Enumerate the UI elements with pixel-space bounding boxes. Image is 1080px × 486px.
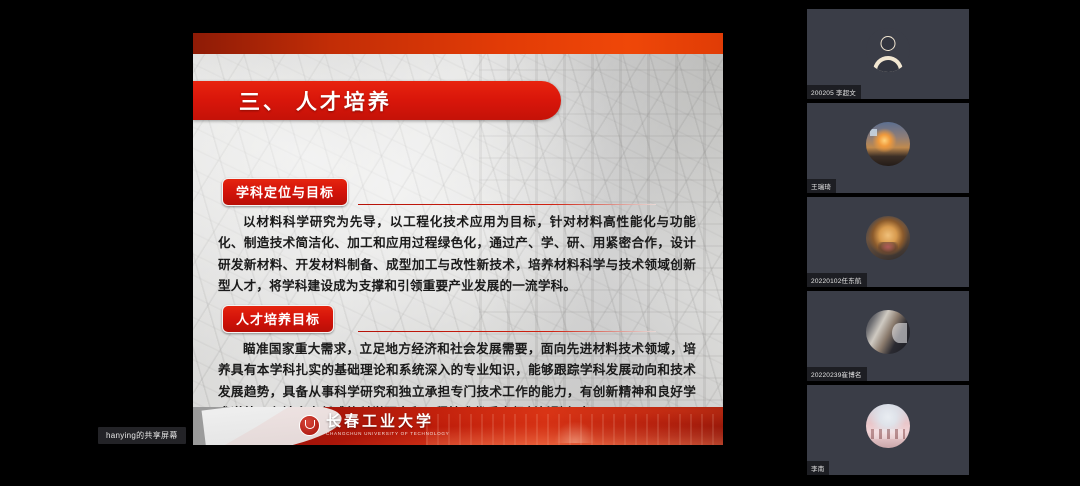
participant-filmstrip[interactable]: 200205 李超文 王瑞琦 20220102任东航 20220239崔博名 李…	[807, 9, 969, 479]
participant-tile[interactable]: 李南	[807, 385, 969, 475]
shared-screen-stage[interactable]: 三、 人才培养 学科定位与目标 以材料科学研究为先导，以工程化技术应用为目标，针…	[0, 0, 795, 486]
section-rule-2	[358, 331, 656, 333]
university-name-en: CHANGCHUN UNIVERSITY OF TECHNOLOGY	[326, 432, 449, 437]
participant-tile[interactable]: 20220102任东航	[807, 197, 969, 287]
section-body-1: 以材料科学研究为先导，以工程化技术应用为目标，针对材料高性能化与功能化、制造技术…	[218, 211, 696, 297]
participant-name: 20220102任东航	[807, 273, 867, 287]
avatar	[866, 122, 910, 166]
section-header-2: 人才培养目标	[222, 305, 334, 333]
participant-tile[interactable]: 王瑞琦	[807, 103, 969, 193]
presentation-slide: 三、 人才培养 学科定位与目标 以材料科学研究为先导，以工程化技术应用为目标，针…	[193, 33, 723, 445]
presenter-caption: hanying的共享屏幕	[98, 427, 186, 444]
slide-footer: 长春工业大学 CHANGCHUN UNIVERSITY OF TECHNOLOG…	[193, 407, 723, 445]
slide-top-banner	[193, 33, 723, 54]
university-logo: 长春工业大学 CHANGCHUN UNIVERSITY OF TECHNOLOG…	[299, 414, 449, 437]
section-rule-1	[358, 204, 656, 206]
participant-name: 200205 李超文	[807, 85, 861, 99]
slide-title: 三、 人才培养	[239, 86, 392, 116]
section-badge-1: 学科定位与目标	[222, 178, 348, 206]
university-emblem-icon	[299, 415, 320, 436]
university-name-cn: 长春工业大学	[326, 414, 449, 429]
participant-name: 李南	[807, 461, 829, 475]
avatar	[866, 404, 910, 448]
participant-tile[interactable]: 200205 李超文	[807, 9, 969, 99]
section-badge-2: 人才培养目标	[222, 305, 334, 333]
participant-name: 王瑞琦	[807, 179, 836, 193]
participant-tile[interactable]: 20220239崔博名	[807, 291, 969, 381]
avatar	[866, 216, 910, 260]
avatar	[866, 310, 910, 354]
slide-title-bar: 三、 人才培养	[193, 81, 561, 120]
participant-name: 20220239崔博名	[807, 367, 867, 381]
avatar	[866, 28, 910, 72]
section-header-1: 学科定位与目标	[222, 178, 348, 206]
campus-dome	[554, 421, 596, 443]
